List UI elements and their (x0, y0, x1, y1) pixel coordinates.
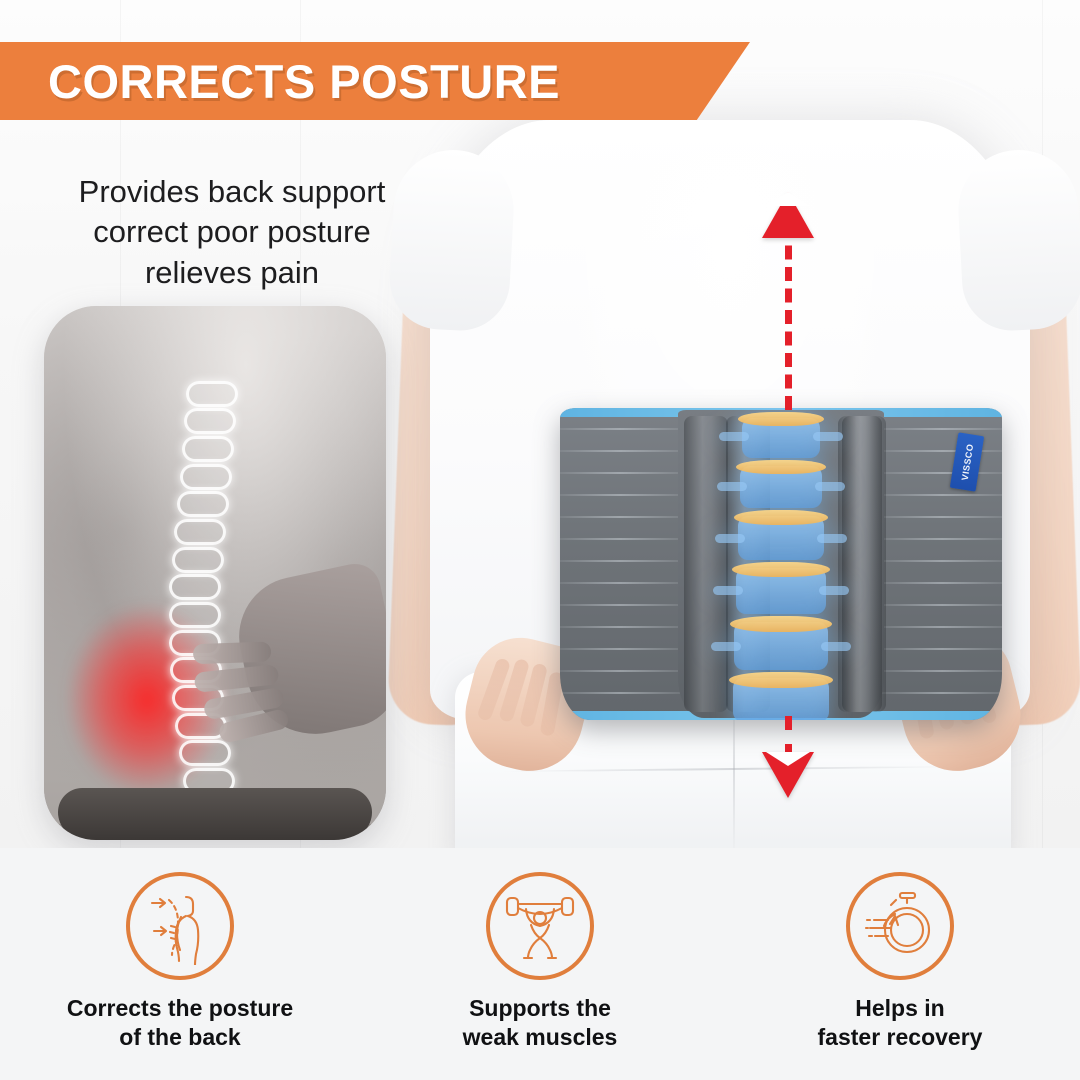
feature-label-line-2: faster recovery (740, 1023, 1060, 1052)
headline-line-1: Provides back support (32, 172, 432, 212)
elastic-ribbing-left (560, 418, 680, 710)
arrow-up-shaft (785, 224, 792, 410)
header-banner: CORRECTS POSTURE (0, 42, 750, 120)
arrow-up-notch (766, 192, 810, 206)
feature-label-line-1: Helps in (740, 994, 1060, 1023)
back-pain-inset-photo (44, 306, 386, 840)
feature-strip: Corrects the posture of the back (0, 848, 1080, 1080)
stopwatch-speed-icon (846, 872, 954, 980)
headline-line-2: correct poor posture (32, 212, 432, 252)
headline-line-3: relieves pain (32, 253, 432, 293)
feature-faster-recovery[interactable]: Helps in faster recovery (740, 872, 1060, 1052)
feature-label-line-2: of the back (20, 1023, 340, 1052)
infographic-canvas: VISSCO (0, 0, 1080, 1080)
feature-label-line-2: weak muscles (380, 1023, 700, 1052)
page-title: CORRECTS POSTURE (0, 58, 560, 105)
brand-label-text: VISSCO (959, 443, 975, 481)
elastic-ribbing-right (882, 418, 1002, 710)
support-stay (842, 416, 886, 712)
belt-body: VISSCO (560, 408, 1002, 720)
feature-corrects-posture[interactable]: Corrects the posture of the back (20, 872, 340, 1052)
right-sleeve (955, 147, 1080, 333)
posture-figure-icon (126, 872, 234, 980)
support-stay (726, 416, 770, 712)
feature-supports-muscles[interactable]: Supports the weak muscles (380, 872, 700, 1052)
waistband (58, 788, 373, 840)
support-stay (684, 416, 728, 712)
lumbar-support-belt: VISSCO (560, 408, 1002, 720)
spine-illustration (164, 381, 238, 776)
weightlifter-icon (486, 872, 594, 980)
headline-copy: Provides back support correct poor postu… (32, 172, 432, 293)
arrow-down-notch (766, 752, 810, 766)
feature-label-line-1: Supports the (380, 994, 700, 1023)
feature-label-line-1: Corrects the posture (20, 994, 340, 1023)
